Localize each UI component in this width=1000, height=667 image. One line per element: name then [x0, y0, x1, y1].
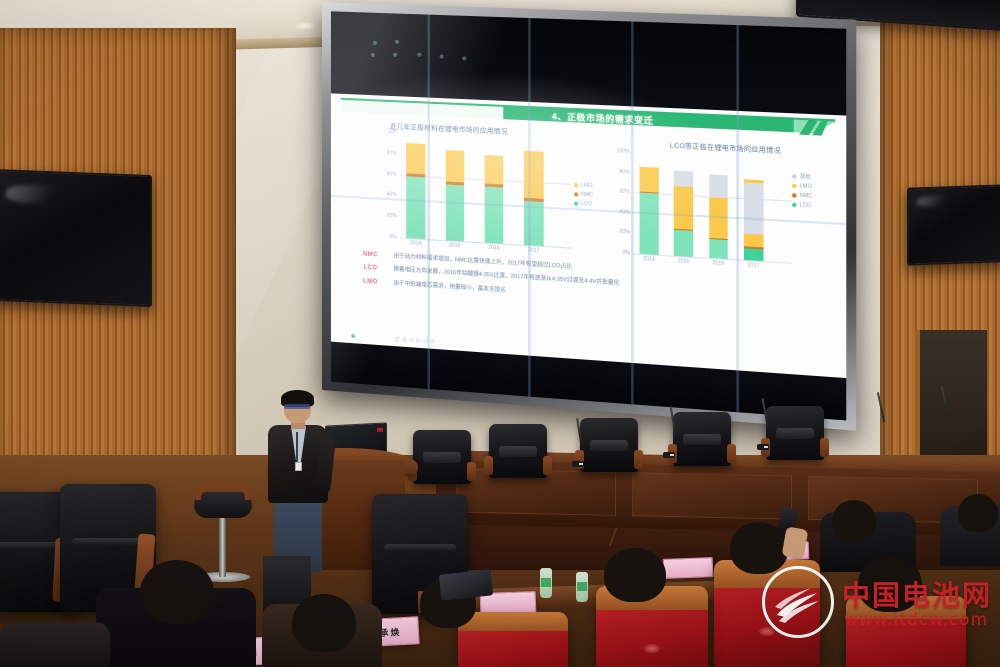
chart-2: 100% 80% 60% 40% 20% 0% 2014 — [633, 152, 792, 263]
head-table-chair[interactable] — [766, 406, 824, 460]
legend-item: NMC — [574, 191, 593, 198]
chart-2-xtick: 2017 — [747, 262, 759, 269]
bar-stool-backrest — [196, 482, 250, 500]
bar-seg-lco — [445, 185, 464, 242]
bar-seg-lmo — [639, 166, 658, 192]
legend-item: 其他 — [792, 172, 812, 180]
legend-swatch-lco — [574, 202, 578, 206]
laptop-indicator-light — [377, 428, 383, 432]
audience-head — [292, 594, 356, 652]
legend-swatch-nmc — [574, 192, 578, 196]
bar-seg-lco — [406, 176, 425, 239]
water-bottle[interactable] — [540, 568, 552, 598]
bar-seg-lmo — [674, 186, 693, 230]
left-wall-monitor[interactable] — [0, 169, 152, 307]
bar-seg-lmo — [709, 197, 728, 238]
legend-item: LCO — [792, 202, 812, 209]
chart-1-ytick: 80% — [387, 150, 397, 157]
chart-2-ytick: 60% — [619, 189, 630, 196]
legend-label: LMO — [800, 183, 812, 190]
chart-1-xtick: 2017 — [528, 247, 540, 254]
chair-armrest — [820, 438, 829, 457]
slide-logo-icon: ❖ — [350, 333, 356, 340]
legend-swatch-lmo — [574, 183, 578, 187]
right-wall-monitor[interactable] — [907, 184, 1000, 265]
video-wall-screen: 4、正极市场的需求变迁 近几年正极材料在锂电市场的应用情况 100 80% 60… — [331, 11, 846, 420]
note-key: LMO — [355, 278, 385, 286]
bar-seg-other — [709, 174, 728, 198]
presenter — [266, 392, 340, 572]
chart-2-xtick: 2016 — [712, 260, 724, 267]
head-table-chair[interactable] — [580, 418, 638, 472]
chart-1-xtick: 2015 — [449, 242, 460, 249]
table-panel — [632, 472, 792, 519]
bar-seg-lmo — [406, 143, 425, 174]
chart-1-ytick: 60% — [387, 171, 397, 178]
chart-2-bar: 2016 — [709, 174, 728, 259]
head-table-chair[interactable] — [489, 424, 547, 478]
bar-seg-lmo — [744, 234, 763, 248]
video-wall-frame: 4、正极市场的需求变迁 近几年正极材料在锂电市场的应用情况 100 80% 60… — [322, 2, 856, 431]
audience-shoulders — [0, 622, 110, 667]
bar-stool-pole — [219, 515, 226, 577]
seat-wood-rail — [458, 612, 568, 631]
bar-seg-other — [674, 170, 693, 186]
slide-logo-text: 正极材料研究 — [395, 336, 438, 346]
chart-1-ytick: 100 — [388, 129, 396, 135]
chart-2-ytick: 0% — [622, 250, 630, 257]
flame-circle-logo-icon — [771, 575, 825, 629]
head-table-chair[interactable] — [673, 412, 731, 466]
ceiling-downlight — [295, 22, 317, 30]
bar-seg-lco — [485, 187, 504, 244]
legend-swatch-lco — [792, 203, 796, 207]
chair-armrest — [634, 450, 643, 469]
video-wall-display[interactable]: 4、正极市场的需求变迁 近几年正极材料在锂电市场的应用情况 100 80% 60… — [322, 2, 856, 431]
legend-item: LMO — [792, 183, 812, 190]
chart-2-legend: 其他 LMO NMC LCO — [792, 172, 812, 212]
legend-label: LCO — [581, 201, 592, 208]
audience-head — [958, 494, 998, 532]
legend-swatch-lmo — [792, 184, 796, 188]
audience-head — [604, 548, 666, 602]
chart-2-ytick: 40% — [619, 209, 630, 216]
bar-seg-lmo — [445, 150, 464, 183]
note-key: LCO — [355, 264, 385, 272]
watermark-url: www.itdcw.com — [844, 610, 988, 630]
seat-logo-icon — [644, 644, 660, 653]
water-bottle[interactable] — [576, 572, 588, 602]
legend-label: LMO — [581, 182, 592, 189]
bar-seg-other — [744, 183, 763, 235]
door-recess — [915, 330, 987, 470]
watermark: 中国电池网 www.itdcw.com — [762, 560, 1000, 646]
bar-seg-lmo — [485, 155, 504, 185]
chart-2-heading: LCO等正极在锂电市场的应用情况 — [670, 139, 781, 155]
legend-swatch-other — [792, 174, 796, 178]
chart-2-ytick: 20% — [619, 229, 630, 236]
watermark-logo-circle — [762, 566, 834, 638]
note-key: NMC — [355, 251, 385, 259]
chart-1-ytick: 40% — [387, 192, 397, 199]
microphone-base — [757, 444, 769, 450]
watermark-chinese-text: 中国电池网 — [842, 574, 992, 614]
microphone-base — [572, 461, 584, 467]
chart-2-bar: 2015 — [674, 170, 693, 257]
legend-label: LCO — [800, 202, 811, 209]
chart-1-xtick: 2014 — [410, 240, 421, 247]
screen-led-dots — [369, 39, 501, 74]
legend-item: NMC — [792, 192, 812, 199]
chart-2-bar: 2014 — [639, 164, 658, 254]
chart-1-bar: 2015 — [445, 144, 464, 241]
chair-seat-line — [72, 538, 145, 545]
chart-1-bar: 2016 — [485, 149, 504, 243]
audience-head — [832, 500, 876, 542]
chart-1-legend: LMO NMC LCO — [574, 182, 593, 211]
chart-2-ytick: 80% — [619, 168, 630, 175]
chair-armrest — [727, 444, 736, 463]
camera-device[interactable] — [439, 569, 493, 600]
chair-seat-line — [384, 544, 457, 551]
theater-seat[interactable] — [458, 612, 568, 667]
title-slash-decoration — [793, 118, 829, 136]
legend-item: LCO — [574, 200, 593, 207]
head-table-chair[interactable] — [413, 430, 471, 484]
chart-2-ytick: 100% — [616, 148, 630, 155]
bar-seg-lmo — [524, 151, 543, 199]
legend-label: 其他 — [800, 173, 811, 181]
chart-1-bar: 2017 — [524, 147, 543, 246]
chart-2-bar: 2017 — [744, 178, 763, 261]
conference-room-photo: 4、正极市场的需求变迁 近几年正极材料在锂电市场的应用情况 100 80% 60… — [0, 0, 1000, 667]
bar-seg-lco — [524, 201, 543, 246]
chair-armrest — [484, 456, 493, 475]
screen-glare — [917, 195, 955, 207]
chair-armrest — [543, 456, 552, 475]
presentation-slide: 4、正极市场的需求变迁 近几年正极材料在锂电市场的应用情况 100 80% 60… — [331, 93, 846, 378]
chart-1: 100 80% 60% 40% 20% 0% 2014 — [400, 133, 571, 248]
presenter-badge — [295, 462, 302, 471]
chart-1-xtick: 2016 — [488, 245, 499, 252]
bar-seg-lco — [674, 230, 693, 257]
presenter-glasses-icon — [284, 404, 310, 409]
chart-1-ytick: 20% — [387, 213, 397, 220]
bar-seg-lco — [744, 248, 763, 261]
chart-1-ytick: 0% — [389, 234, 396, 240]
screen-glare — [6, 184, 68, 204]
bar-seg-lco — [709, 239, 728, 259]
chart-2-xtick: 2015 — [677, 258, 689, 265]
microphone-base — [663, 452, 675, 458]
audience-head — [140, 560, 214, 624]
presenter-lanyard — [296, 432, 298, 462]
chart-2-xtick: 2014 — [643, 256, 655, 263]
note-text: 由于中低端电芯需求，用量较小，基本无增长 — [394, 280, 506, 294]
legend-swatch-nmc — [792, 193, 796, 197]
nameplate-blank — [663, 557, 714, 579]
legend-item: LMO — [574, 182, 593, 189]
chair-armrest — [467, 462, 476, 481]
chart-1-bar: 2014 — [406, 138, 425, 239]
bar-seg-lco — [639, 193, 658, 255]
legend-label: NMC — [800, 193, 813, 200]
legend-label: NMC — [581, 192, 593, 199]
